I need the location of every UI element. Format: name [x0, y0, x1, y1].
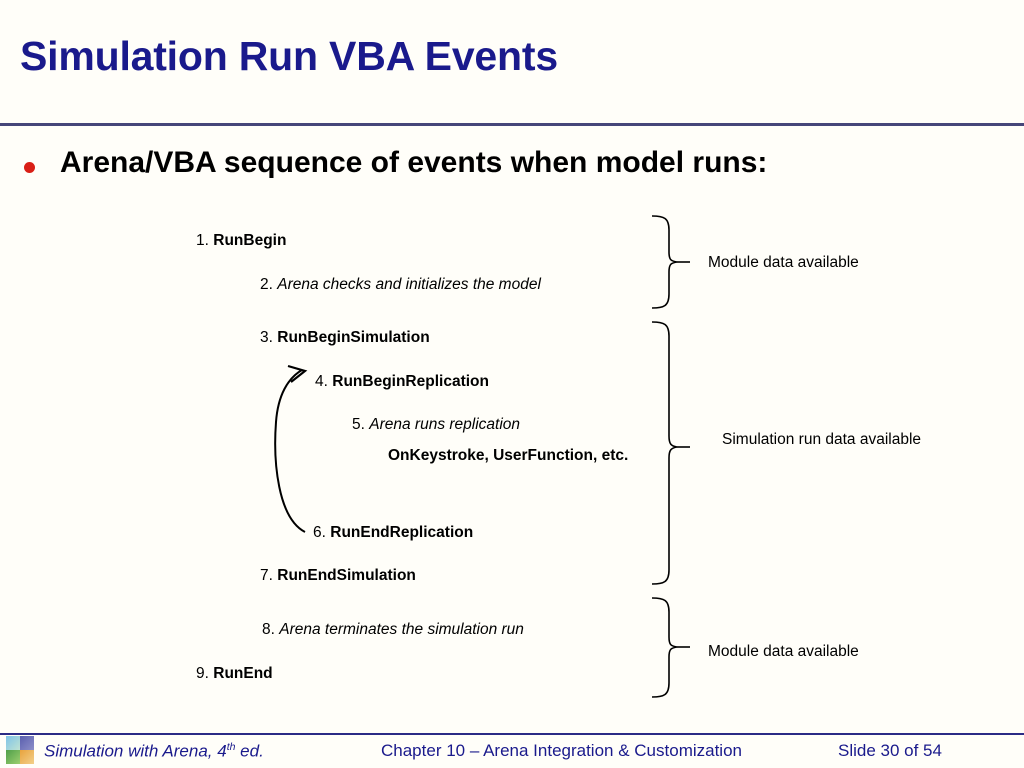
list-item-number: 3. — [260, 329, 273, 346]
brace-icon-simulation-run-data — [650, 320, 696, 586]
list-item-label: RunEndSimulation — [277, 567, 416, 584]
annotation-label: Module data available — [708, 642, 938, 662]
list-item-label: RunBeginReplication — [332, 373, 489, 390]
list-item-number: 5. — [352, 416, 365, 433]
page-title: Simulation Run VBA Events — [20, 33, 558, 80]
bullet-dot-icon — [24, 162, 35, 173]
list-item: 6. RunEndReplication — [313, 523, 473, 543]
annotation-label: Simulation run data available — [722, 430, 952, 450]
footer-book-title-tail: ed. — [235, 742, 263, 761]
footer-book-title-main: Simulation with Arena, 4 — [44, 742, 227, 761]
list-item: 1. RunBegin — [196, 231, 286, 251]
replication-loop-arrow-icon — [272, 362, 332, 542]
list-item-number: 7. — [260, 567, 273, 584]
list-item-number: 2. — [260, 276, 273, 293]
list-item-number: 9. — [196, 665, 209, 682]
list-item-label: RunEndReplication — [330, 524, 473, 541]
list-item: 3. RunBeginSimulation — [260, 328, 430, 348]
list-item-label: Arena terminates the simulation run — [279, 621, 524, 638]
list-item-label: RunEnd — [213, 665, 272, 682]
list-item: 7. RunEndSimulation — [260, 566, 416, 586]
footer-chapter: Chapter 10 – Arena Integration & Customi… — [381, 741, 742, 761]
list-item-label: Arena runs replication — [369, 416, 520, 433]
list-item-label: RunBegin — [213, 232, 286, 249]
book-logo-icon — [6, 736, 34, 764]
list-item: 5. Arena runs replication — [352, 415, 520, 435]
title-divider — [0, 123, 1024, 126]
brace-icon-module-data-top — [650, 214, 696, 310]
list-item: 9. RunEnd — [196, 664, 273, 684]
footer-divider — [0, 733, 1024, 735]
list-item-number: 1. — [196, 232, 209, 249]
list-item: 8. Arena terminates the simulation run — [262, 620, 524, 640]
list-item: 4. RunBeginReplication — [315, 372, 489, 392]
bullet-text: Arena/VBA sequence of events when model … — [60, 146, 767, 180]
list-item-label: Arena checks and initializes the model — [277, 276, 541, 293]
footer-slide-number: Slide 30 of 54 — [838, 741, 942, 761]
list-item-label: RunBeginSimulation — [277, 329, 429, 346]
footer-book-title: Simulation with Arena, 4th ed. — [44, 741, 264, 762]
bullet-row: Arena/VBA sequence of events when model … — [18, 146, 1008, 188]
list-item-number: 8. — [262, 621, 275, 638]
annotation-label: Module data available — [708, 253, 938, 273]
list-item: 2. Arena checks and initializes the mode… — [260, 275, 541, 295]
sub-note-text: OnKeystroke, UserFunction, etc. — [388, 446, 638, 465]
brace-icon-module-data-bottom — [650, 596, 696, 699]
